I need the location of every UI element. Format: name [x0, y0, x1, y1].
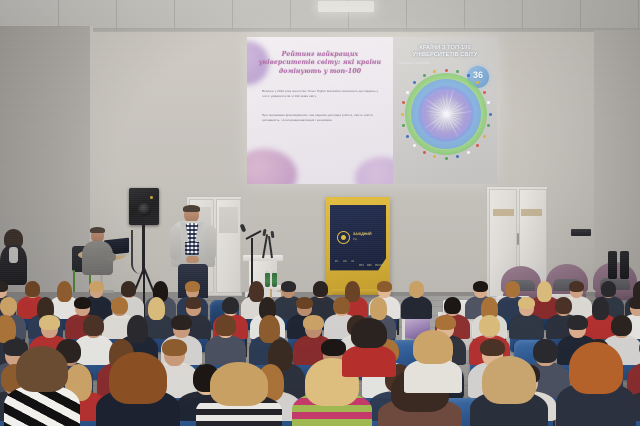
audience-white-hoodie — [404, 330, 462, 392]
audience-front-center-left — [96, 352, 180, 426]
audience-foreground — [0, 0, 640, 426]
audience-front-far-right — [556, 342, 636, 426]
audience-front-center — [196, 362, 282, 426]
audience-front-right-2 — [470, 356, 548, 426]
audience-red-hoodie — [342, 318, 396, 376]
audience-front-left — [4, 346, 80, 426]
photo-scene: Рейтинг найкращих університетів світу: я… — [0, 0, 640, 426]
